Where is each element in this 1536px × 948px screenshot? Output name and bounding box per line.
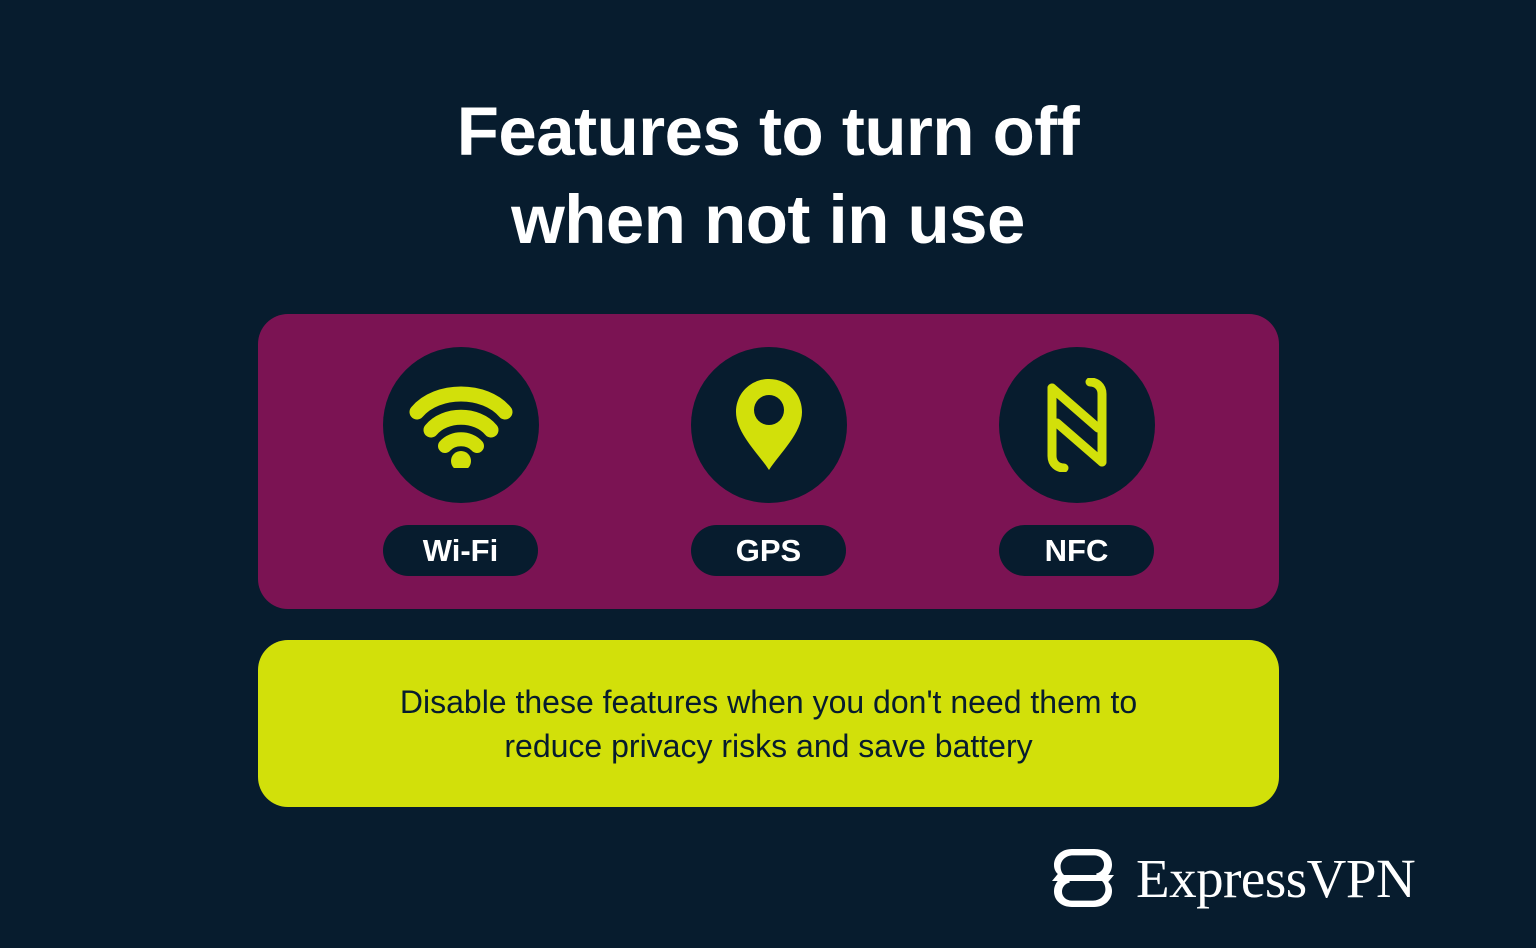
features-panel: Wi-Fi GPS bbox=[258, 314, 1279, 609]
caption-panel: Disable these features when you don't ne… bbox=[258, 640, 1279, 807]
feature-label-gps: GPS bbox=[691, 525, 846, 576]
wifi-icon bbox=[409, 382, 513, 468]
page-title-line-1: Features to turn off bbox=[0, 88, 1536, 176]
brand-lockup: ExpressVPN bbox=[1048, 843, 1415, 913]
location-pin-icon bbox=[734, 377, 804, 473]
features-row: Wi-Fi GPS bbox=[258, 314, 1279, 609]
feature-label-wifi: Wi-Fi bbox=[383, 525, 538, 576]
nfc-icon bbox=[1040, 378, 1114, 472]
feature-item-wifi[interactable]: Wi-Fi bbox=[376, 347, 546, 576]
location-pin-icon-badge bbox=[691, 347, 847, 503]
infographic-canvas: Features to turn off when not in use bbox=[0, 0, 1536, 948]
page-title: Features to turn off when not in use bbox=[0, 88, 1536, 264]
feature-item-gps[interactable]: GPS bbox=[684, 347, 854, 576]
caption-line-1: Disable these features when you don't ne… bbox=[400, 680, 1137, 724]
expressvpn-logomark-icon bbox=[1048, 843, 1118, 913]
feature-item-nfc[interactable]: NFC bbox=[992, 347, 1162, 576]
caption-line-2: reduce privacy risks and save battery bbox=[400, 724, 1137, 768]
feature-label-nfc: NFC bbox=[999, 525, 1154, 576]
page-title-line-2: when not in use bbox=[0, 176, 1536, 264]
brand-name: ExpressVPN bbox=[1136, 851, 1415, 906]
caption-text: Disable these features when you don't ne… bbox=[360, 680, 1177, 768]
wifi-icon-badge bbox=[383, 347, 539, 503]
nfc-icon-badge bbox=[999, 347, 1155, 503]
